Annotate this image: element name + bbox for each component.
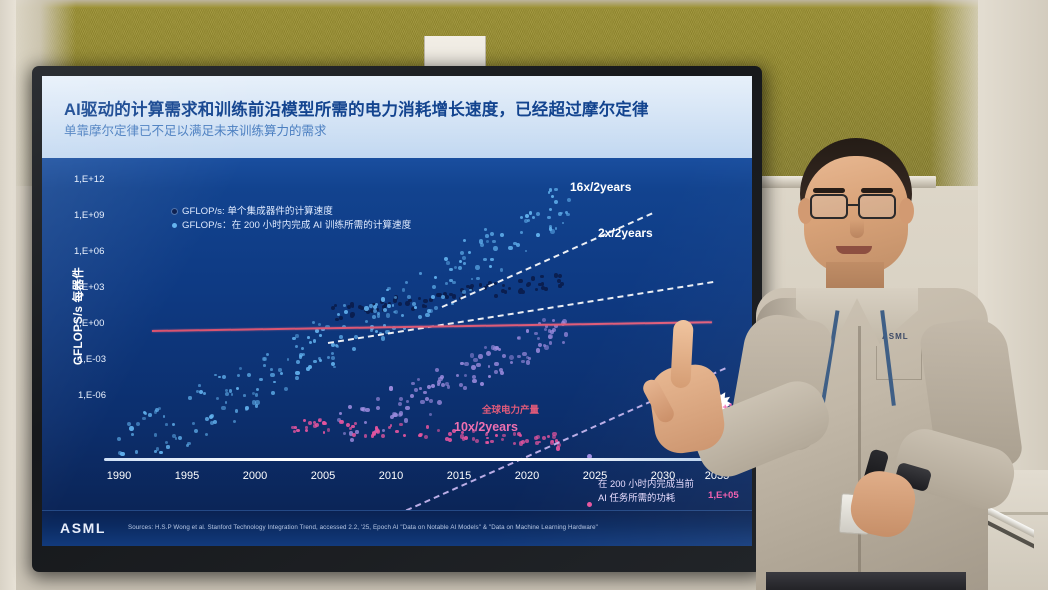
x-tick-4: 2010: [366, 470, 416, 482]
scatter-point: [555, 227, 558, 230]
scatter-point: [534, 436, 538, 440]
presenter-ear-right: [899, 198, 914, 224]
scatter-point: [365, 320, 369, 324]
scatter-point: [551, 195, 554, 198]
scatter-point: [525, 214, 529, 218]
scatter-point: [205, 433, 208, 436]
asml-logo: ASML: [60, 520, 106, 536]
scatter-point: [479, 283, 482, 286]
scatter-point: [408, 299, 411, 302]
scatter-point: [488, 365, 491, 368]
scatter-point: [554, 200, 558, 204]
x-tick-6: 2020: [502, 470, 552, 482]
scatter-point: [414, 306, 417, 309]
presenter-mouth: [836, 246, 872, 254]
scatter-point: [552, 328, 556, 332]
scatter-point: [448, 432, 452, 436]
x-tick-5: 2015: [434, 470, 484, 482]
scatter-point: [136, 422, 140, 426]
scatter-point: [270, 373, 274, 377]
scatter-point: [423, 391, 427, 395]
scatter-point: [431, 384, 435, 388]
scatter-point: [486, 351, 491, 356]
legend-marker-training-icon: [172, 223, 177, 228]
scatter-point: [350, 438, 354, 442]
scatter-point: [339, 316, 343, 320]
scatter-point: [418, 297, 421, 300]
scatter-point: [364, 434, 367, 437]
scatter-point: [509, 355, 514, 360]
glasses-lens-left-icon: [810, 194, 848, 219]
scatter-point: [213, 420, 217, 424]
scatter-point: [459, 383, 463, 387]
scatter-point: [462, 290, 466, 294]
scatter-point: [369, 304, 372, 307]
scatter-point: [336, 345, 339, 348]
annotation-power-production: 全球电力产量: [482, 402, 539, 416]
scatter-point: [502, 284, 505, 287]
scatter-point: [352, 347, 356, 351]
scatter-point: [510, 361, 513, 364]
scatter-point: [280, 372, 283, 375]
annotation-16x: 16x/2years: [570, 180, 631, 194]
scatter-point: [255, 404, 258, 407]
scatter-point: [172, 423, 175, 426]
scatter-point: [403, 434, 406, 437]
scatter-point: [218, 376, 221, 379]
scatter-point: [494, 370, 498, 374]
scatter-point: [566, 213, 570, 217]
scatter-point: [494, 294, 498, 298]
scatter-point: [502, 354, 506, 358]
scatter-point: [301, 347, 304, 350]
scatter-point: [522, 352, 526, 356]
scatter-point: [231, 393, 234, 396]
scatter-point: [402, 288, 406, 292]
scatter-point: [464, 362, 468, 366]
scatter-point: [536, 212, 540, 216]
scatter-point: [521, 360, 525, 364]
scatter-point: [536, 348, 541, 353]
scatter-point: [475, 439, 479, 443]
scatter-point: [494, 362, 498, 366]
scatter-point: [519, 441, 523, 445]
scatter-point: [480, 382, 484, 386]
scatter-point: [460, 434, 464, 438]
scatter-point: [225, 401, 228, 404]
scatter-point: [315, 329, 319, 333]
scatter-point: [308, 421, 312, 425]
y-tick-5: 1,E-03: [78, 354, 106, 365]
scatter-point: [449, 268, 453, 272]
scatter-point: [548, 191, 551, 194]
scatter-point: [417, 378, 420, 381]
scatter-point: [266, 353, 269, 356]
scatter-point: [558, 284, 561, 287]
scatter-point: [501, 438, 504, 441]
scatter-point: [389, 386, 393, 390]
scatter-point: [526, 360, 530, 364]
scatter-point: [500, 233, 504, 237]
scatter-point: [463, 239, 466, 242]
scatter-point: [178, 436, 182, 440]
scatter-point: [386, 289, 389, 292]
scatter-point: [235, 409, 238, 412]
scatter-point: [411, 382, 415, 386]
scatter-point: [541, 282, 545, 286]
scatter-point: [529, 211, 532, 214]
scatter-point: [395, 430, 399, 434]
scatter-point: [303, 419, 306, 422]
scatter-point: [445, 295, 449, 299]
scatter-point: [429, 298, 432, 301]
display-screen: AI驱动的计算需求和训练前沿模型所需的电力消耗增长速度，已经超过摩尔定律 单靠摩…: [42, 76, 752, 546]
scatter-point: [526, 329, 530, 333]
scatter-point: [556, 446, 560, 450]
scatter-point: [398, 302, 402, 306]
scatter-point: [460, 362, 464, 366]
scatter-point: [426, 425, 430, 429]
scatter-point: [538, 343, 542, 347]
scatter-point: [471, 278, 474, 281]
scatter-point: [495, 434, 498, 437]
scatter-point: [429, 413, 432, 416]
scatter-point: [548, 334, 553, 339]
scatter-point: [558, 274, 562, 278]
scatter-point: [552, 435, 556, 439]
scatter-point: [549, 341, 552, 344]
scatter-point: [259, 378, 263, 382]
scatter-point: [501, 289, 505, 293]
y-tick-1: 1,E+09: [74, 210, 104, 221]
scatter-point: [163, 415, 166, 418]
scatter-point: [364, 306, 369, 311]
scatter-point: [305, 429, 308, 432]
scatter-point: [532, 216, 535, 219]
scatter-point: [441, 295, 445, 299]
scatter-point: [434, 276, 437, 279]
scatter-point: [435, 368, 439, 372]
scatter-point: [484, 228, 487, 231]
scatter-point: [377, 314, 381, 318]
scatter-point: [547, 216, 550, 219]
scatter-point: [155, 408, 159, 412]
scatter-point: [375, 330, 378, 333]
scatter-point: [295, 334, 299, 338]
scatter-point: [542, 318, 547, 323]
scatter-point: [354, 422, 357, 425]
scatter-point: [118, 451, 122, 455]
scatter-point: [331, 356, 335, 360]
scatter-point: [463, 262, 466, 265]
scatter-point: [263, 364, 266, 367]
scatter-point: [236, 387, 239, 390]
scatter-point: [343, 432, 346, 435]
scatter-point: [452, 294, 457, 299]
scatter-point: [348, 405, 352, 409]
scatter-point: [520, 231, 523, 234]
scatter-point: [376, 406, 380, 410]
scatter-point: [376, 430, 380, 434]
scatter-point: [372, 315, 376, 319]
scatter-point: [117, 437, 121, 441]
scatter-point: [243, 394, 246, 397]
scatter-point: [527, 219, 530, 222]
scatter-point: [562, 341, 566, 345]
scatter-point: [383, 308, 387, 312]
scatter-point: [203, 392, 206, 395]
scatter-point: [381, 434, 385, 438]
scatter-point: [327, 428, 330, 431]
scatter-point: [419, 272, 422, 275]
y-tick-6: 1,E-06: [78, 390, 106, 401]
scatter-point: [567, 198, 571, 202]
scatter-point: [270, 368, 273, 371]
scatter-point: [205, 417, 209, 421]
scatter-point: [284, 387, 288, 391]
scatter-point: [462, 256, 466, 260]
scatter-point: [549, 227, 553, 231]
scatter-point: [534, 332, 537, 335]
x-tick-0: 1990: [94, 470, 144, 482]
scatter-point: [527, 282, 531, 286]
presenter-brow-right: [861, 188, 893, 193]
scatter-point: [350, 314, 354, 318]
scatter-point: [271, 391, 275, 395]
scatter-point: [307, 336, 310, 339]
wall-display: AI驱动的计算需求和训练前沿模型所需的电力消耗增长速度，已经超过摩尔定律 单靠摩…: [32, 66, 762, 572]
chart-plot-area: GFLOPS/s 每器件 1,E+12 1,E+09 1,E+06 1,E+03…: [42, 158, 752, 546]
scatter-point: [263, 357, 267, 361]
scatter-point: [475, 265, 479, 269]
scatter-point: [364, 421, 368, 425]
glasses-bridge: [848, 204, 860, 206]
scatter-point: [319, 334, 322, 337]
scatter-point: [390, 415, 394, 419]
scatter-point: [489, 265, 493, 269]
scatter-point: [405, 281, 408, 284]
sources-text: Sources: H.S.P Wong et al. Stanford Tech…: [128, 524, 598, 531]
scatter-point: [381, 336, 386, 341]
scatter-point: [424, 435, 428, 439]
scatter-point: [214, 374, 217, 377]
scatter-point: [564, 332, 569, 337]
scatter-point: [490, 258, 493, 261]
scatter-point: [538, 441, 541, 444]
scatter-point: [470, 353, 474, 357]
scatter-point: [373, 305, 377, 309]
scatter-point: [327, 356, 330, 359]
scatter-point: [159, 451, 163, 455]
scatter-point: [154, 450, 157, 453]
scatter-point: [478, 354, 482, 358]
scatter-point: [407, 295, 411, 299]
scatter-point: [388, 426, 391, 429]
x-tick-3: 2005: [298, 470, 348, 482]
annotation-10x: 10x/2years: [454, 420, 518, 434]
scatter-point: [381, 297, 385, 301]
scatter-point: [484, 346, 487, 349]
scatter-point: [194, 429, 198, 433]
ceiling-strip: [16, 0, 978, 8]
scatter-point: [464, 436, 468, 440]
scatter-point: [513, 442, 516, 445]
scatter-point: [492, 240, 495, 243]
scatter-point: [187, 442, 190, 445]
scatter-point: [365, 408, 369, 412]
scatter-point: [445, 282, 448, 285]
scatter-point: [452, 281, 455, 284]
scatter-point: [490, 440, 494, 444]
slide: AI驱动的计算需求和训练前沿模型所需的电力消耗增长速度，已经超过摩尔定律 单靠摩…: [42, 76, 752, 546]
scatter-point: [548, 329, 552, 333]
scatter-point: [520, 216, 524, 220]
scatter-point: [198, 384, 201, 387]
scatter-point: [252, 392, 255, 395]
scatter-point: [221, 406, 225, 410]
scatter-point: [456, 374, 459, 377]
scatter-point: [308, 365, 312, 369]
scatter-point: [445, 382, 449, 386]
legend-item-0: GFLOP/s: 单个集成器件的计算速度: [172, 205, 411, 219]
scatter-point: [296, 429, 299, 432]
legend-item-1: GFLOP/s：在 200 小时内完成 AI 训练所需的计算速度: [172, 219, 411, 233]
scatter-point: [471, 365, 476, 370]
scatter-point: [309, 341, 312, 344]
scatter-point: [393, 413, 397, 417]
scatter-point: [216, 397, 219, 400]
scatter-point: [296, 360, 300, 364]
scatter-point: [458, 266, 462, 270]
scatter-point: [323, 422, 326, 425]
scatter-point: [255, 393, 258, 396]
presenter: ASML: [700, 120, 1048, 590]
scatter-point: [486, 240, 489, 243]
scatter-point: [525, 439, 529, 443]
scatter-point: [434, 306, 438, 310]
scatter-point: [305, 426, 308, 429]
scatter-point: [352, 433, 356, 437]
scatter-point: [418, 434, 422, 438]
scatter-point: [222, 375, 226, 379]
annotation-2x: 2x/2years: [598, 226, 653, 240]
scatter-point: [404, 418, 409, 423]
scatter-point: [473, 358, 477, 362]
y-tick-0: 1,E+12: [74, 174, 104, 185]
scatter-point: [516, 243, 520, 247]
scatter-point: [406, 400, 409, 403]
right-legend-marker-2010-icon: [587, 502, 592, 507]
scatter-point: [398, 413, 402, 417]
scatter-point: [372, 432, 376, 436]
scatter-point: [293, 430, 296, 433]
scatter-point: [493, 246, 498, 251]
scatter-point: [313, 360, 316, 363]
scatter-point: [476, 277, 479, 280]
scatter-point: [554, 188, 558, 192]
scatter-point: [398, 402, 402, 406]
scatter-point: [247, 373, 251, 377]
scatter-point: [339, 412, 343, 416]
scatter-point: [502, 434, 506, 438]
scatter-point: [519, 434, 522, 437]
scatter-point: [154, 433, 158, 437]
chart-legend: GFLOP/s: 单个集成器件的计算速度 GFLOP/s：在 200 小时内完成…: [172, 205, 411, 233]
scatter-point: [245, 406, 249, 410]
scatter-point: [536, 233, 540, 237]
scatter-point: [339, 335, 343, 339]
scatter-point: [360, 407, 364, 411]
scatter-point: [188, 396, 191, 399]
scatter-point: [399, 397, 403, 401]
scatter-point: [485, 234, 489, 238]
scatter-point: [127, 422, 131, 426]
scatter-point: [299, 353, 303, 357]
scatter-point: [313, 339, 317, 343]
scatter-point: [255, 400, 259, 404]
scatter-point: [392, 304, 395, 307]
legend-marker-device-icon: [172, 209, 177, 214]
scatter-point: [424, 305, 428, 309]
scatter-point: [295, 371, 299, 375]
scatter-point: [295, 376, 299, 380]
scatter-point: [129, 426, 134, 431]
scatter-point: [333, 366, 336, 369]
scatter-point: [468, 251, 471, 254]
scatter-point: [472, 379, 476, 383]
scatter-point: [318, 323, 321, 326]
scatter-point: [410, 394, 414, 398]
presenter-belt: [766, 572, 966, 590]
scatter-point: [318, 418, 322, 422]
scatter-point: [525, 250, 528, 253]
scatter-point: [540, 275, 543, 278]
shirt-placket: [858, 326, 861, 590]
scatter-point: [412, 302, 416, 306]
x-tick-1: 1995: [162, 470, 212, 482]
scatter-point: [463, 386, 467, 390]
x-tick-8: 2030: [638, 470, 688, 482]
scatter-point: [315, 423, 319, 427]
scatter-point: [498, 348, 501, 351]
scatter-point: [518, 279, 522, 283]
scatter-point: [131, 433, 134, 436]
scatter-point: [517, 355, 521, 359]
scatter-point: [318, 357, 321, 360]
scatter-point: [344, 310, 348, 314]
scatter-point: [446, 261, 450, 265]
scatter-point: [500, 268, 503, 271]
scatter-point: [233, 420, 236, 423]
scatter-point: [142, 417, 146, 421]
scatter-point: [273, 381, 276, 384]
scatter-point: [399, 423, 403, 427]
y-tick-4: 1,E+00: [74, 318, 104, 329]
scatter-point: [537, 337, 540, 340]
scatter-point: [405, 406, 410, 411]
slide-footer: ASML Sources: H.S.P Wong et al. Stanford…: [42, 510, 752, 546]
wall-left: [0, 0, 16, 590]
scatter-point: [432, 285, 436, 289]
presenter-brow-left: [813, 188, 845, 193]
scatter-point: [376, 397, 380, 401]
scatter-point: [488, 375, 491, 378]
presenter-index-finger: [670, 320, 694, 389]
scatter-point: [486, 437, 489, 440]
scatter-point: [535, 288, 538, 291]
y-tick-2: 1,E+06: [74, 246, 104, 257]
scatter-point: [319, 359, 322, 362]
